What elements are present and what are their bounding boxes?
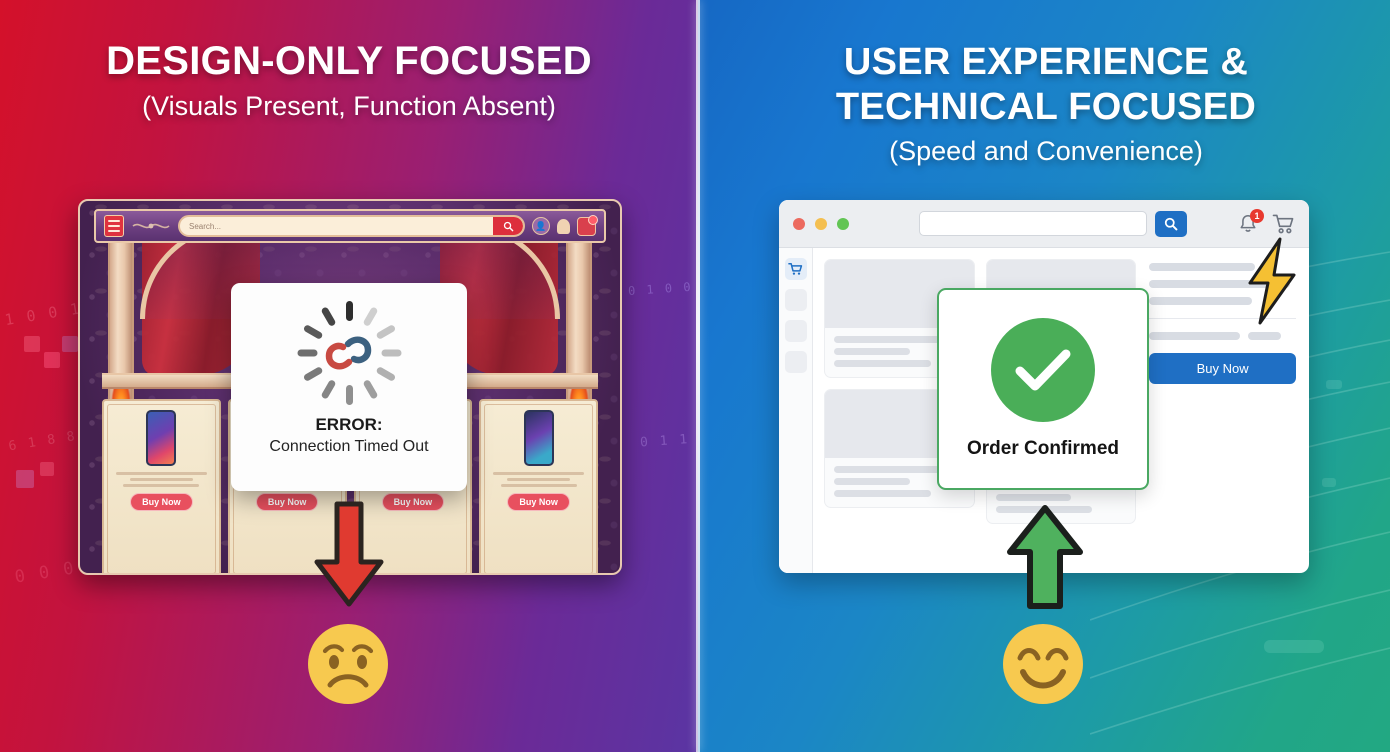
left-heading-block: DESIGN-ONLY FOCUSED (Visuals Present, Fu… [28, 40, 670, 122]
buy-now-button[interactable]: Buy Now [130, 493, 193, 511]
product-card[interactable]: Buy Now [102, 399, 221, 575]
buy-now-button[interactable]: Buy Now [1149, 353, 1296, 384]
search-field[interactable] [920, 218, 1146, 230]
ornate-search-input[interactable]: Search... [178, 215, 525, 237]
notification-bell-icon[interactable] [557, 219, 570, 234]
arrow-down-icon [311, 500, 387, 610]
right-heading-subtitle: (Speed and Convenience) [712, 136, 1380, 166]
card-text-lines [487, 472, 590, 487]
right-heading-title-line2: TECHNICAL FOCUSED [712, 85, 1380, 130]
search-input[interactable] [919, 211, 1147, 236]
buy-now-button[interactable]: Buy Now [382, 493, 445, 511]
card-text-lines [110, 472, 213, 487]
smiling-face-emoji [1001, 622, 1085, 706]
center-divider [696, 0, 700, 752]
toolbar-actions: 1 [1238, 213, 1295, 235]
arrow-up-icon [1004, 504, 1086, 610]
order-confirmed-label: Order Confirmed [967, 438, 1119, 460]
left-heading-subtitle: (Visuals Present, Function Absent) [28, 91, 670, 121]
error-dialog: ERROR: Connection Timed Out [231, 283, 467, 491]
traffic-light-maximize[interactable] [837, 218, 849, 230]
ornate-search-placeholder: Search... [180, 222, 221, 231]
pixel-square [24, 336, 40, 352]
clean-browser-toolbar: 1 [779, 200, 1309, 248]
right-heading-block: USER EXPERIENCE & TECHNICAL FOCUSED (Spe… [712, 40, 1380, 166]
ornate-search-button[interactable] [493, 217, 523, 235]
search-button[interactable] [1155, 211, 1187, 237]
disappointed-face-emoji [306, 622, 390, 706]
traffic-light-close[interactable] [793, 218, 805, 230]
phone-thumbnail [146, 410, 176, 466]
error-message: Connection Timed Out [269, 438, 428, 456]
sidebar-item-placeholder[interactable] [785, 320, 807, 342]
ornate-toolbar: Search... 👤 [94, 209, 606, 243]
broken-link-icon [322, 332, 376, 374]
check-circle-icon [991, 318, 1095, 422]
pixel-square [16, 470, 34, 488]
shopping-cart-icon[interactable] [577, 217, 596, 236]
binary-texture-center-left-2: 0 1 1 0 0 1 0 [640, 426, 698, 452]
order-confirmed-card: Order Confirmed [937, 288, 1149, 490]
user-profile-icon[interactable]: 👤 [532, 217, 550, 235]
pixel-square [40, 462, 54, 476]
sidebar [779, 248, 813, 573]
search-icon [1164, 217, 1178, 231]
error-title: ERROR: [315, 415, 382, 435]
sidebar-item-placeholder[interactable] [785, 289, 807, 311]
buy-now-button[interactable]: Buy Now [507, 493, 570, 511]
pixel-square [44, 352, 60, 368]
left-heading-title: DESIGN-ONLY FOCUSED [28, 40, 670, 82]
binary-texture-center-left-1: 0 1 0 0 1 1 0 [628, 276, 698, 300]
notification-badge: 1 [1250, 209, 1264, 223]
lightning-bolt-icon [1240, 237, 1304, 325]
right-heading-title-line1: USER EXPERIENCE & [712, 40, 1380, 85]
comparison-infographic: 0 1 0 0 1 0 1 1 0 6 1 8 8 2 3 0 0 0 0 1 … [0, 0, 1390, 752]
product-card[interactable]: Buy Now [479, 399, 598, 575]
pixel-square [62, 336, 78, 352]
sidebar-item-placeholder[interactable] [785, 351, 807, 373]
cart-icon [788, 262, 803, 276]
notification-bell-button[interactable]: 1 [1238, 213, 1258, 235]
sidebar-item-cart[interactable] [785, 258, 807, 280]
traffic-light-minimize[interactable] [815, 218, 827, 230]
product-detail-panel: Buy Now [1147, 259, 1298, 562]
buy-now-button[interactable]: Buy Now [256, 493, 319, 511]
loading-spinner-icon [293, 297, 405, 409]
price-row [1149, 332, 1296, 340]
ornament-flourish-icon [131, 219, 171, 233]
shopping-cart-icon[interactable] [1272, 213, 1295, 234]
search-icon [503, 221, 514, 232]
hamburger-menu-icon[interactable] [104, 215, 124, 237]
phone-thumbnail [524, 410, 554, 466]
checkmark-icon [1014, 347, 1072, 393]
